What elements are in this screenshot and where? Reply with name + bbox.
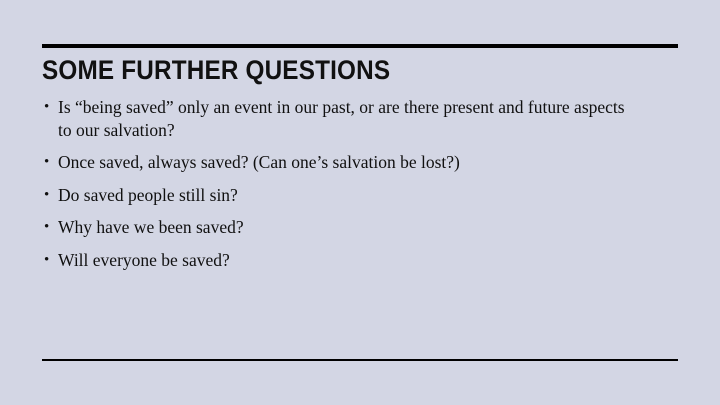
list-item: • Will everyone be saved? — [42, 249, 626, 272]
list-item-text: Once saved, always saved? (Can one’s sal… — [58, 151, 626, 174]
list-item: • Do saved people still sin? — [42, 184, 626, 207]
page-title: SOME FURTHER QUESTIONS — [42, 55, 390, 85]
footer-bottom-rule — [42, 359, 678, 361]
list-item: • Once saved, always saved? (Can one’s s… — [42, 151, 626, 174]
bullet-point-icon: • — [44, 184, 49, 207]
list-item: • Is “being saved” only an event in our … — [42, 96, 626, 141]
list-item-text: Is “being saved” only an event in our pa… — [58, 96, 626, 141]
title-top-rule — [42, 44, 678, 48]
bullet-point-icon: • — [44, 216, 49, 239]
list-item: • Why have we been saved? — [42, 216, 626, 239]
question-list: • Is “being saved” only an event in our … — [42, 96, 626, 271]
bullet-point-icon: • — [44, 151, 49, 174]
list-item-text: Do saved people still sin? — [58, 184, 626, 207]
list-item-text: Will everyone be saved? — [58, 249, 626, 272]
slide-canvas: SOME FURTHER QUESTIONS • Is “being saved… — [0, 0, 720, 405]
bullet-point-icon: • — [44, 96, 49, 119]
bullet-point-icon: • — [44, 249, 49, 272]
list-item-text: Why have we been saved? — [58, 216, 626, 239]
